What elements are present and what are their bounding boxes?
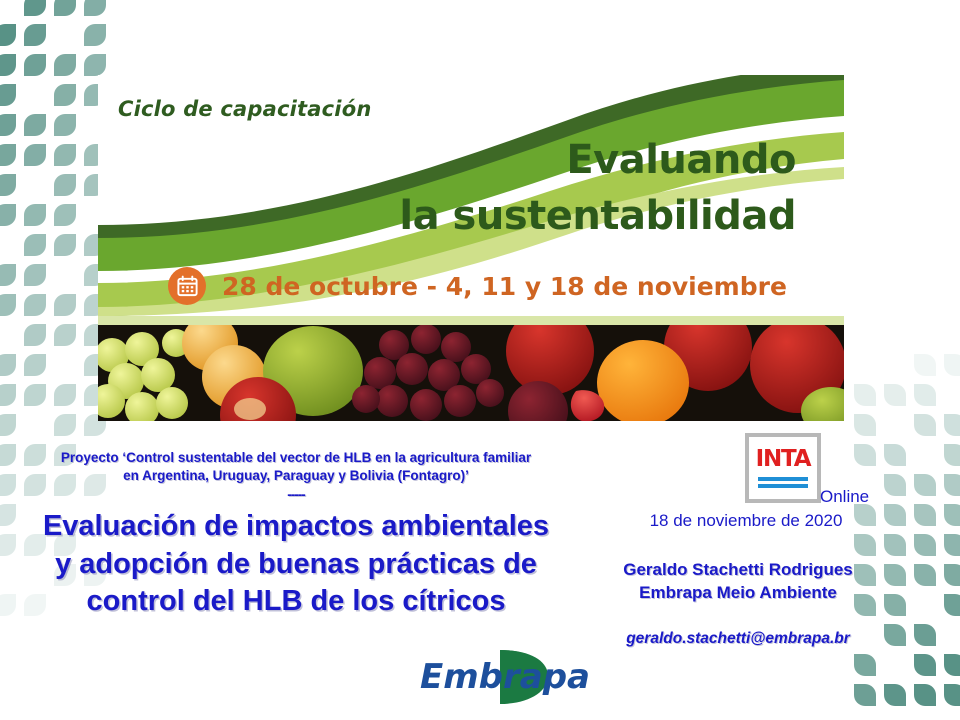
decorative-leaf-tile [0, 354, 16, 376]
calendar-icon [168, 267, 206, 305]
speaker-name: Geraldo Stachetti Rodrigues [580, 559, 896, 582]
decorative-leaf-tile [944, 534, 960, 556]
decorative-leaf-tile [944, 354, 960, 376]
decorative-leaf-tile [84, 0, 106, 16]
decorative-leaf-tile [854, 684, 876, 706]
decorative-leaf-tile [0, 54, 16, 76]
calendar-icon-glyph [176, 275, 199, 298]
decorative-leaf-tile [944, 504, 960, 526]
inta-logo: INTA [745, 433, 821, 503]
decorative-leaf-tile [914, 684, 936, 706]
decorative-leaf-pattern-right [830, 0, 960, 720]
project-separator: ----- [6, 487, 586, 502]
decorative-leaf-tile [84, 54, 106, 76]
banner-title-line1: Evaluando [566, 137, 796, 183]
decorative-leaf-tile [0, 84, 16, 106]
decorative-leaf-tile [884, 384, 906, 406]
decorative-leaf-tile [54, 204, 76, 226]
decorative-leaf-tile [944, 594, 960, 616]
event-modality: Online [820, 487, 869, 507]
decorative-leaf-tile [0, 114, 16, 136]
decorative-leaf-tile [0, 174, 16, 196]
decorative-leaf-tile [854, 444, 876, 466]
decorative-leaf-tile [24, 264, 46, 286]
svg-text:Embrapa: Embrapa [420, 657, 588, 697]
banner-eyebrow: Ciclo de capacitación [118, 97, 371, 121]
inta-bar-1 [758, 477, 808, 481]
decorative-leaf-tile [0, 264, 16, 286]
embrapa-logo: Embrapa [418, 648, 588, 706]
decorative-leaf-tile [884, 474, 906, 496]
decorative-leaf-tile [914, 354, 936, 376]
decorative-leaf-tile [24, 144, 46, 166]
decorative-leaf-tile [0, 414, 16, 436]
project-subtitle: Proyecto ‘Control sustentable del vector… [6, 449, 586, 485]
project-subtitle-line1: Proyecto ‘Control sustentable del vector… [6, 449, 586, 467]
decorative-leaf-tile [0, 384, 16, 406]
decorative-leaf-tile [914, 564, 936, 586]
decorative-leaf-tile [854, 654, 876, 676]
decorative-leaf-tile [54, 324, 76, 346]
decorative-leaf-tile [914, 384, 936, 406]
decorative-leaf-tile [54, 54, 76, 76]
decorative-leaf-tile [54, 0, 76, 16]
decorative-leaf-tile [24, 354, 46, 376]
decorative-leaf-tile [24, 54, 46, 76]
inta-wordmark: INTA [756, 448, 811, 471]
speaker-block: Geraldo Stachetti Rodrigues Embrapa Meio… [580, 559, 896, 604]
decorative-leaf-tile [0, 204, 16, 226]
decorative-leaf-tile [944, 414, 960, 436]
decorative-leaf-tile [0, 294, 16, 316]
decorative-leaf-tile [884, 684, 906, 706]
decorative-leaf-tile [914, 474, 936, 496]
decorative-leaf-tile [914, 534, 936, 556]
decorative-leaf-tile [54, 84, 76, 106]
banner-date-row: 28 de octubre - 4, 11 y 18 de noviembre [98, 256, 844, 316]
fruit-photo-strip [98, 325, 844, 421]
event-banner: Ciclo de capacitación Evaluando la suste… [98, 75, 844, 421]
decorative-leaf-tile [54, 414, 76, 436]
decorative-leaf-tile [944, 654, 960, 676]
decorative-leaf-tile [854, 534, 876, 556]
decorative-leaf-tile [24, 114, 46, 136]
decorative-leaf-tile [24, 24, 46, 46]
inta-bar-2 [758, 484, 808, 488]
page-title: Evaluación de impactos ambientales y ado… [4, 508, 588, 621]
decorative-leaf-tile [0, 24, 16, 46]
decorative-leaf-tile [854, 414, 876, 436]
decorative-leaf-tile [54, 174, 76, 196]
decorative-leaf-tile [84, 24, 106, 46]
inta-logo-inner: INTA [749, 437, 817, 499]
decorative-leaf-tile [24, 384, 46, 406]
decorative-leaf-tile [944, 684, 960, 706]
decorative-leaf-tile [54, 234, 76, 256]
decorative-leaf-tile [24, 0, 46, 16]
decorative-leaf-tile [24, 234, 46, 256]
page-title-line1: Evaluación de impactos ambientales [4, 508, 588, 546]
decorative-leaf-tile [914, 654, 936, 676]
decorative-leaf-tile [54, 384, 76, 406]
decorative-leaf-tile [54, 144, 76, 166]
decorative-leaf-tile [24, 204, 46, 226]
project-subtitle-line2: en Argentina, Uruguay, Paraguay y Bolivi… [6, 467, 586, 485]
page-title-line2: y adopción de buenas prácticas de [4, 546, 588, 584]
decorative-leaf-tile [54, 294, 76, 316]
page-title-line3: control del HLB de los cítricos [4, 583, 588, 621]
decorative-leaf-tile [54, 114, 76, 136]
decorative-leaf-tile [884, 444, 906, 466]
decorative-leaf-tile [944, 564, 960, 586]
presentation-slide: Ciclo de capacitación Evaluando la suste… [0, 0, 960, 720]
decorative-leaf-tile [944, 474, 960, 496]
banner-title-line2: la sustentabilidad [399, 193, 796, 239]
decorative-leaf-tile [944, 444, 960, 466]
decorative-leaf-tile [914, 624, 936, 646]
banner-dates: 28 de octubre - 4, 11 y 18 de noviembre [222, 272, 787, 301]
decorative-leaf-tile [0, 144, 16, 166]
speaker-affiliation: Embrapa Meio Ambiente [580, 582, 896, 605]
banner-top-section: Ciclo de capacitación Evaluando la suste… [98, 75, 844, 316]
speaker-email: geraldo.stachetti@embrapa.br [580, 630, 896, 648]
fruit-photo-graphic [98, 325, 844, 421]
decorative-leaf-tile [24, 324, 46, 346]
decorative-leaf-tile [884, 534, 906, 556]
event-date: 18 de noviembre de 2020 [596, 511, 896, 531]
decorative-leaf-tile [914, 504, 936, 526]
decorative-leaf-tile [914, 414, 936, 436]
decorative-leaf-tile [24, 294, 46, 316]
banner-divider-rule [98, 316, 844, 325]
embrapa-logo-graphic: Embrapa [418, 648, 588, 706]
decorative-leaf-tile [854, 384, 876, 406]
